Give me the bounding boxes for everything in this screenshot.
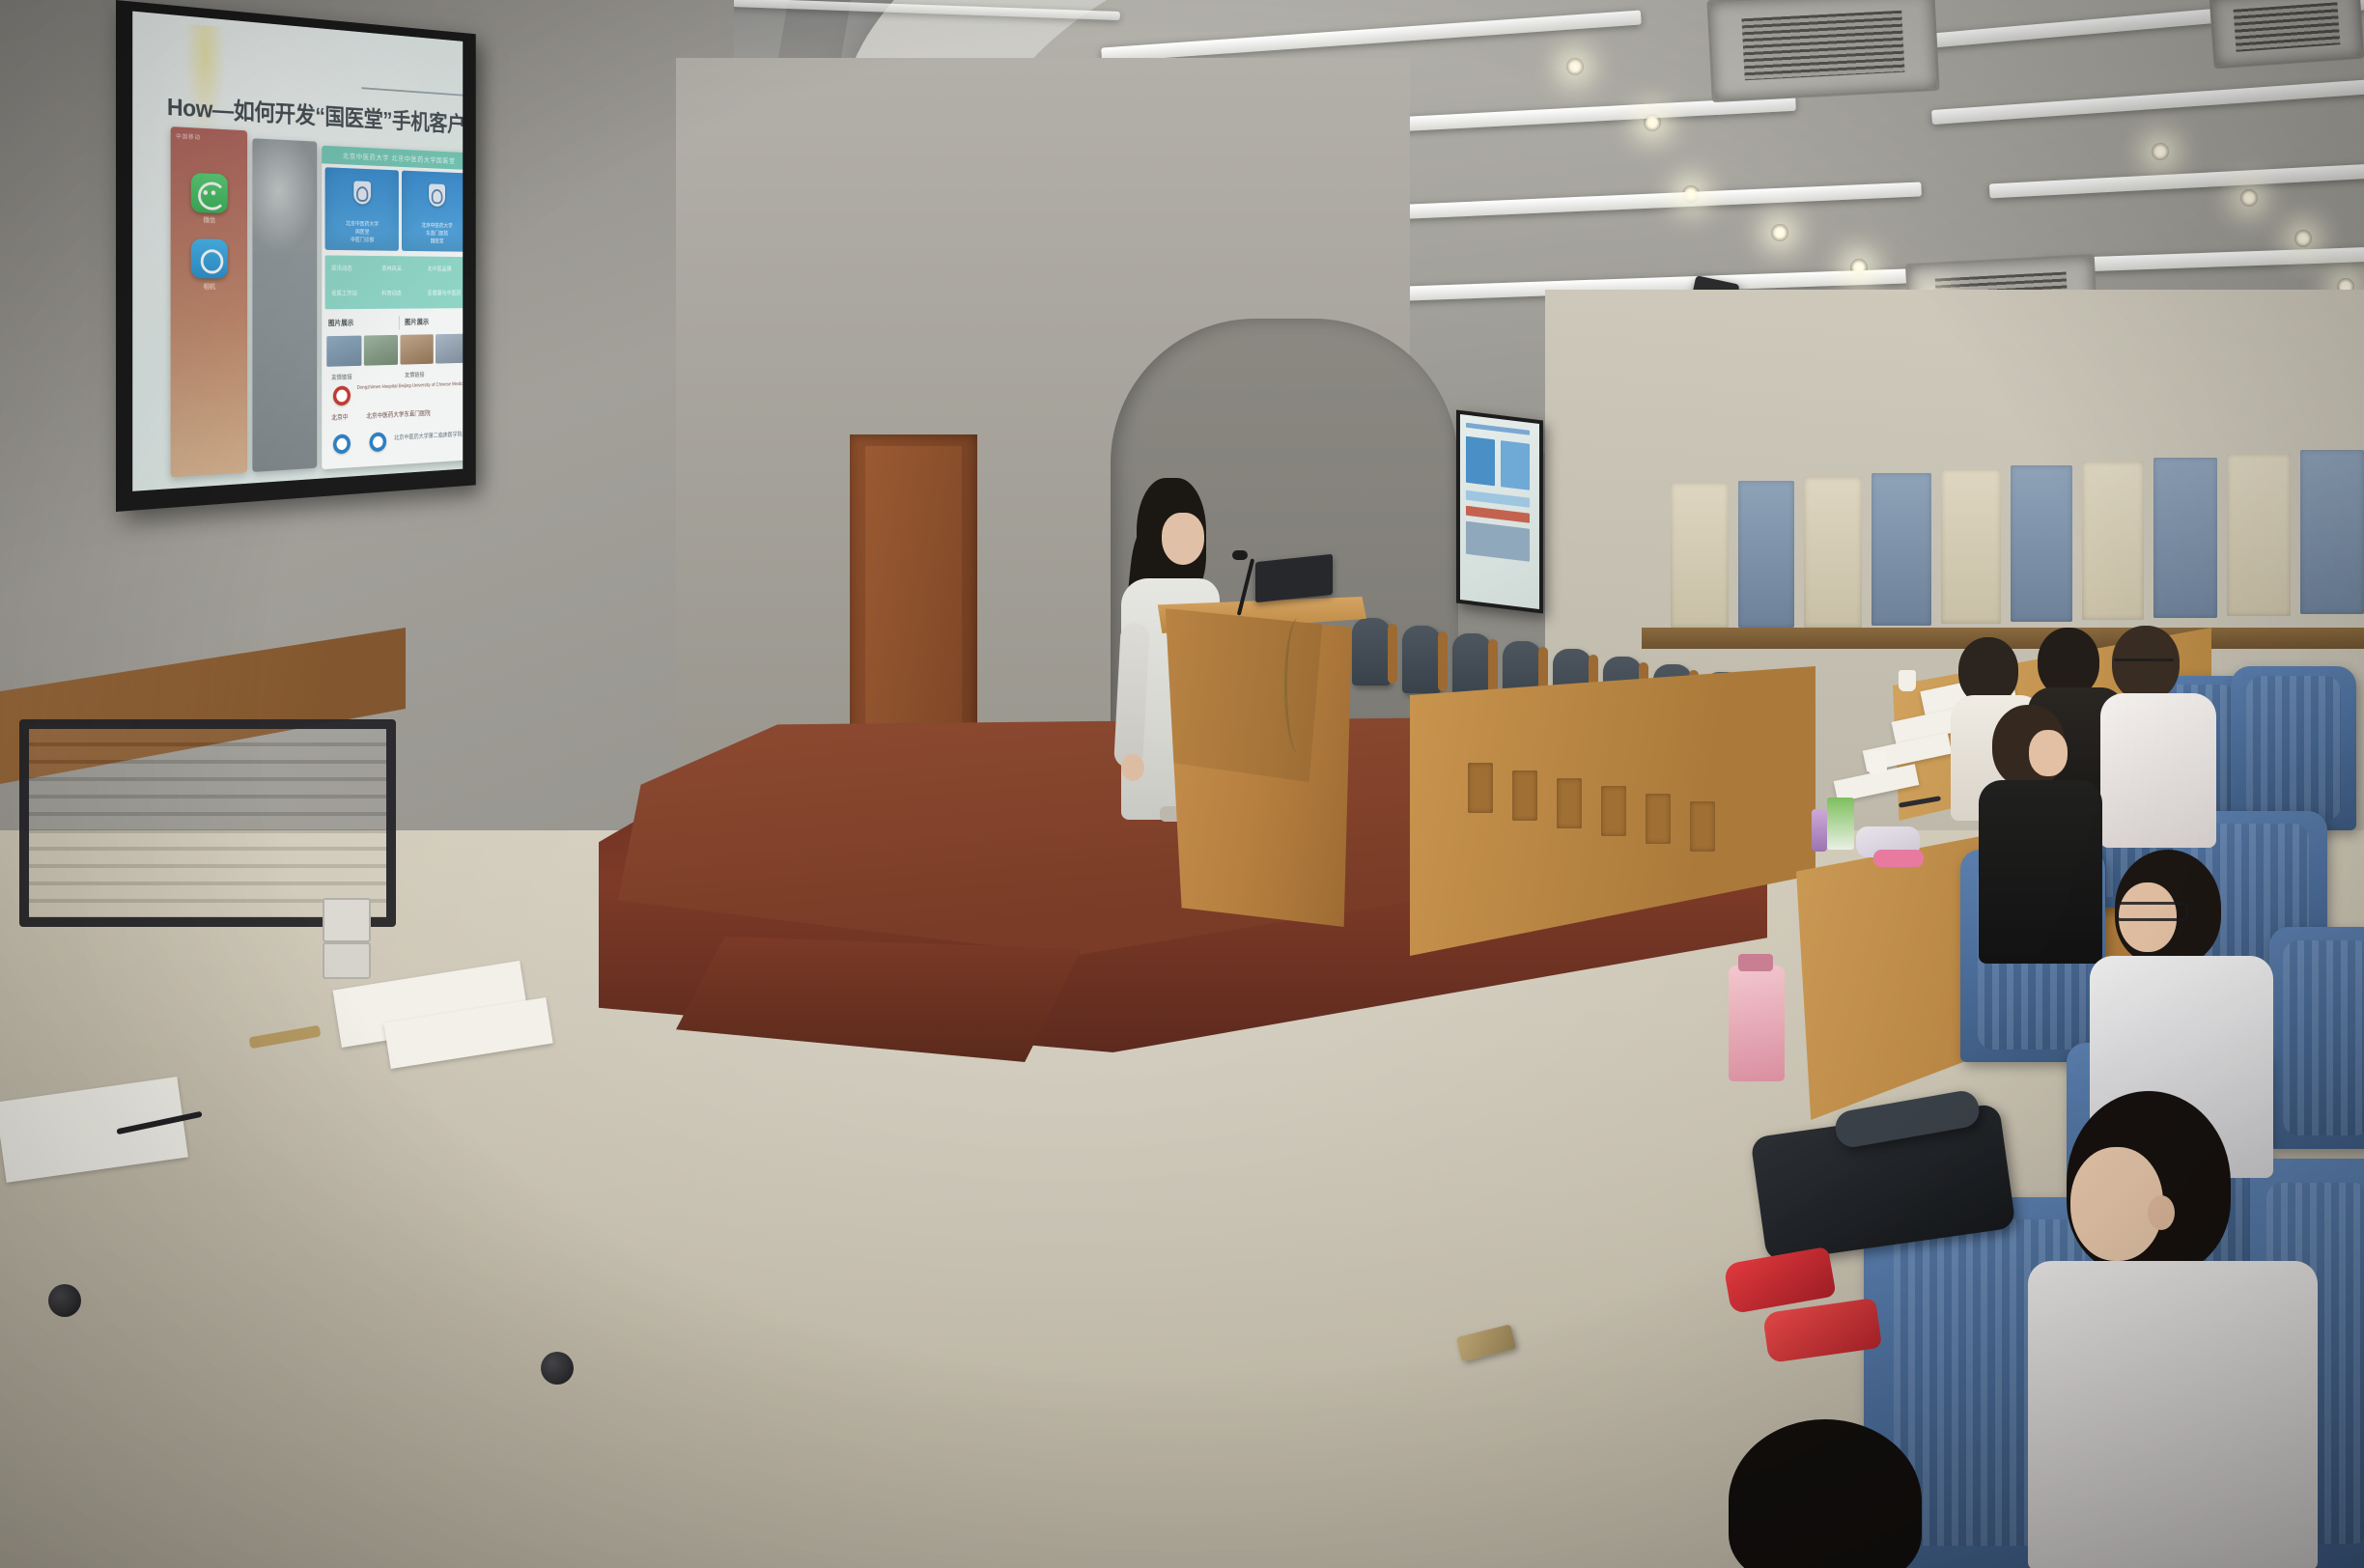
acoustic-panel	[1671, 483, 1729, 628]
partner-logo-cn: 北京中医药大学东直门医院	[366, 410, 430, 419]
main-projection-screen[interactable]: How—如何开发“国医堂”手机客户端？ 中国移动 微信 相机 北京中医药	[116, 0, 476, 512]
recessed-downlight	[1850, 259, 1868, 276]
menu-item[interactable]: 医讯动态	[331, 263, 352, 271]
stage-chair[interactable]	[1402, 626, 1441, 693]
chat-bubble-icon	[191, 173, 228, 213]
paper-cup	[1868, 751, 1887, 774]
card-line3: 中医门诊部	[351, 238, 374, 243]
side-screen-block	[1466, 506, 1530, 523]
recessed-downlight	[1644, 114, 1661, 131]
side-projection-screen[interactable]	[1456, 409, 1543, 613]
side-screen-surface	[1460, 414, 1539, 609]
section-label: 图片展示	[328, 318, 353, 328]
partner-logo[interactable]	[369, 432, 386, 452]
stage-chair[interactable]	[1352, 618, 1391, 686]
table-leg-frame	[19, 719, 396, 927]
link-label: 友情链接	[331, 372, 352, 381]
acoustic-panel	[1804, 477, 1862, 628]
slide-phone-mock-home: 中国移动 微信 相机	[171, 126, 247, 477]
acoustic-panel	[2300, 450, 2364, 614]
card-line2: 东直门医院	[426, 232, 448, 238]
acoustic-panel	[1738, 481, 1794, 628]
recessed-downlight	[2294, 230, 2312, 247]
menu-item[interactable]: 杏林风采	[381, 263, 402, 271]
attendee-face	[2029, 730, 2068, 776]
side-screen-titlebar	[1466, 423, 1530, 435]
eyeglasses-icon	[2115, 902, 2188, 921]
acoustic-panel	[2011, 465, 2072, 622]
ac-vent	[2209, 0, 2364, 69]
slide-phone-mock-photo	[252, 138, 317, 472]
menu-item[interactable]: 亚健康与中医药	[428, 288, 462, 296]
desk-panel	[1646, 794, 1671, 844]
pink-item	[1873, 850, 1924, 867]
university-crest-icon	[429, 183, 445, 207]
paper-cup	[1899, 670, 1916, 691]
partner-en: Dongzhimen Hospital Beijing University o…	[357, 381, 464, 391]
green-box	[1827, 798, 1854, 850]
wall-socket[interactable]	[323, 898, 371, 942]
app-card-text: 北京中医药大学 国医堂 中医门诊部	[325, 220, 399, 245]
auditorium-seat[interactable]	[2269, 927, 2364, 1149]
image-thumbnail[interactable]	[364, 335, 398, 366]
university-crest-icon	[353, 181, 371, 204]
link-label: 友情链接	[405, 369, 424, 378]
app-label: 相机	[183, 282, 236, 292]
app-card-row: 北京中医药大学 国医堂 中医门诊部 北京中医药大学 东直门医院 国医堂	[325, 167, 464, 252]
partner-logo[interactable]	[333, 385, 351, 406]
image-thumbnail[interactable]	[400, 334, 433, 364]
menu-item[interactable]: 名医工作站	[331, 288, 357, 296]
desk-panel	[1468, 763, 1493, 813]
ac-vent	[1706, 0, 1939, 102]
auditorium-seat[interactable]	[2231, 666, 2356, 830]
partner-logo-cn: 北京中医药大学第二临床医学院	[394, 432, 462, 441]
app-card[interactable]: 北京中医药大学 东直门医院 国医堂	[402, 171, 463, 252]
side-screen-block	[1466, 436, 1495, 487]
image-thumbnail[interactable]	[326, 336, 361, 367]
attendee-torso	[1979, 780, 2102, 964]
recessed-downlight	[1682, 185, 1700, 203]
acoustic-panel	[1941, 469, 2001, 624]
water-bottle	[1729, 966, 1785, 1081]
side-screen-block	[1501, 440, 1530, 490]
side-screen-block	[1466, 490, 1530, 508]
wall-socket[interactable]	[323, 942, 371, 979]
card-line2: 国医堂	[355, 230, 370, 236]
water-bottle-desk	[1812, 809, 1827, 852]
image-thumbnail-row	[326, 334, 463, 367]
acoustic-panel	[2153, 458, 2217, 618]
section-divider	[399, 316, 400, 330]
podium-laptop[interactable]	[1255, 554, 1333, 602]
app-menu-grid: 医讯动态 杏林风采 北中医品牌 名医工作站 科普动态 亚健康与中医药	[325, 255, 464, 309]
app-card[interactable]: 北京中医药大学 国医堂 中医门诊部	[325, 167, 399, 251]
recessed-downlight	[1771, 224, 1788, 241]
app-label: 微信	[183, 215, 236, 226]
app-card-text: 北京中医药大学 东直门医院 国医堂	[402, 222, 463, 247]
podium-cable	[1284, 618, 1312, 753]
table-caster	[48, 1284, 81, 1317]
menu-item[interactable]: 科普动态	[381, 288, 402, 296]
partner-logo-text: Dongzhimen Hospital Beijing University o…	[357, 381, 464, 392]
section-label: 图片展示	[405, 317, 429, 326]
menu-item[interactable]: 北中医品牌	[428, 264, 452, 272]
bottle-cap	[1738, 954, 1773, 971]
partner-logo-cn: 北京中	[331, 414, 348, 421]
lecture-hall-photo: How—如何开发“国医堂”手机客户端？ 中国移动 微信 相机 北京中医药	[0, 0, 2364, 1568]
screen-surface: How—如何开发“国医堂”手机客户端？ 中国移动 微信 相机 北京中医药	[132, 12, 463, 491]
presenter-face	[1162, 513, 1204, 565]
eyeglasses-icon	[2114, 658, 2174, 671]
camera-lens-icon	[191, 238, 228, 278]
side-screen-block	[1466, 521, 1530, 562]
slide-phone-mock-app: 北京中医药大学 北京中医药大学国医堂 北京中医药大学 国医堂 中医门诊部	[322, 146, 463, 470]
desk-panel	[1557, 778, 1582, 828]
card-line1: 北京中医药大学	[421, 223, 452, 229]
phone-status-bar: 中国移动	[176, 131, 201, 141]
recessed-downlight	[2240, 189, 2258, 207]
microphone-head	[1232, 550, 1248, 560]
presenter-hand	[1121, 754, 1144, 781]
image-thumbnail[interactable]	[436, 334, 463, 364]
acoustic-panel	[1871, 473, 1931, 626]
acoustic-panel	[2227, 454, 2291, 616]
desk-panel	[1601, 786, 1626, 836]
attendee-ear	[2148, 1195, 2175, 1230]
table-caster	[541, 1352, 574, 1385]
card-line3: 国医堂	[431, 239, 444, 245]
partner-logo[interactable]	[333, 434, 351, 454]
recessed-downlight	[1566, 58, 1584, 75]
desk-panel	[1690, 801, 1715, 852]
desk-panel	[1512, 770, 1537, 821]
attendee-torso	[2028, 1261, 2318, 1568]
acoustic-panel	[2082, 462, 2144, 620]
card-line1: 北京中医药大学	[346, 222, 379, 228]
recessed-downlight	[2152, 143, 2169, 160]
attendee-torso	[2100, 693, 2216, 848]
